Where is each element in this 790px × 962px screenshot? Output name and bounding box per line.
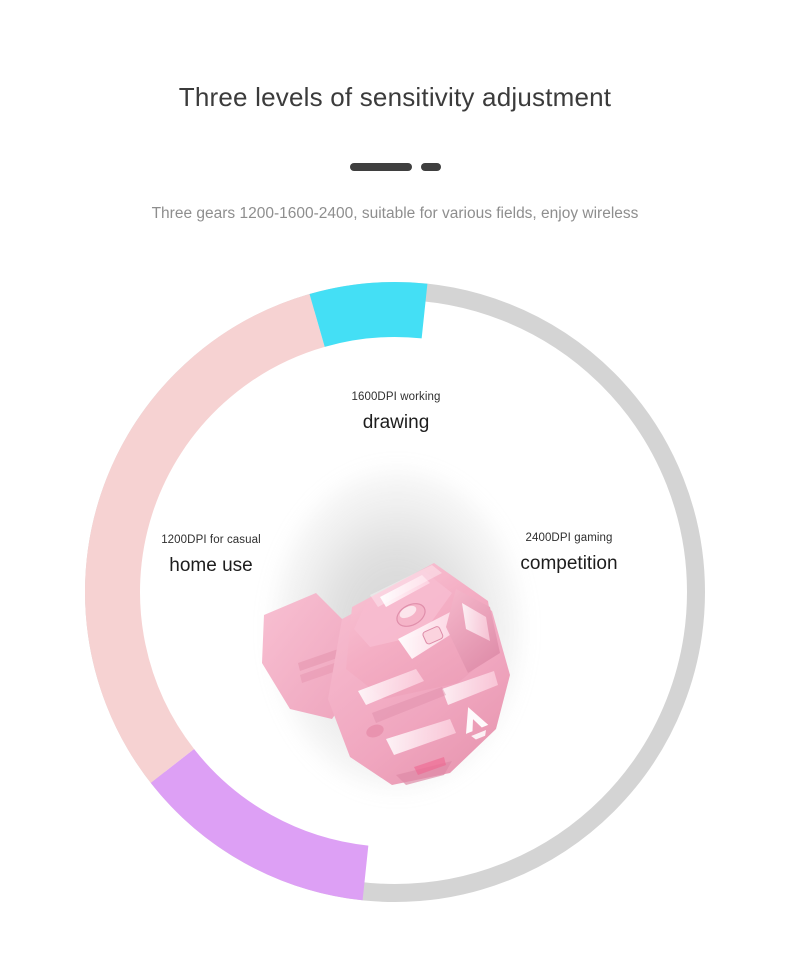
infographic-page: Three levels of sensitivity adjustment T…	[0, 0, 790, 962]
label-casual-usecase: home use	[118, 553, 304, 578]
ring-segment-gaming	[317, 310, 424, 321]
label-casual-dpi: 1200DPI for casual	[118, 533, 304, 548]
page-subtitle: Three gears 1200-1600-2400, suitable for…	[0, 203, 790, 225]
label-working-dpi: 1600DPI working	[296, 390, 496, 405]
page-title: Three levels of sensitivity adjustment	[0, 80, 790, 114]
label-working-usecase: drawing	[296, 410, 496, 435]
label-gaming-competition: 2400DPI gaming competition	[474, 531, 664, 576]
label-casual-home-use: 1200DPI for casual home use	[118, 533, 304, 578]
label-gaming-usecase: competition	[474, 551, 664, 576]
label-gaming-dpi: 2400DPI gaming	[474, 531, 664, 546]
label-working-drawing: 1600DPI working drawing	[296, 390, 496, 435]
title-divider	[0, 163, 790, 171]
divider-short-dash-icon	[421, 163, 441, 171]
divider-long-dash-icon	[350, 163, 412, 171]
sensitivity-ring-diagram: 1600DPI working drawing 1200DPI for casu…	[0, 265, 790, 945]
